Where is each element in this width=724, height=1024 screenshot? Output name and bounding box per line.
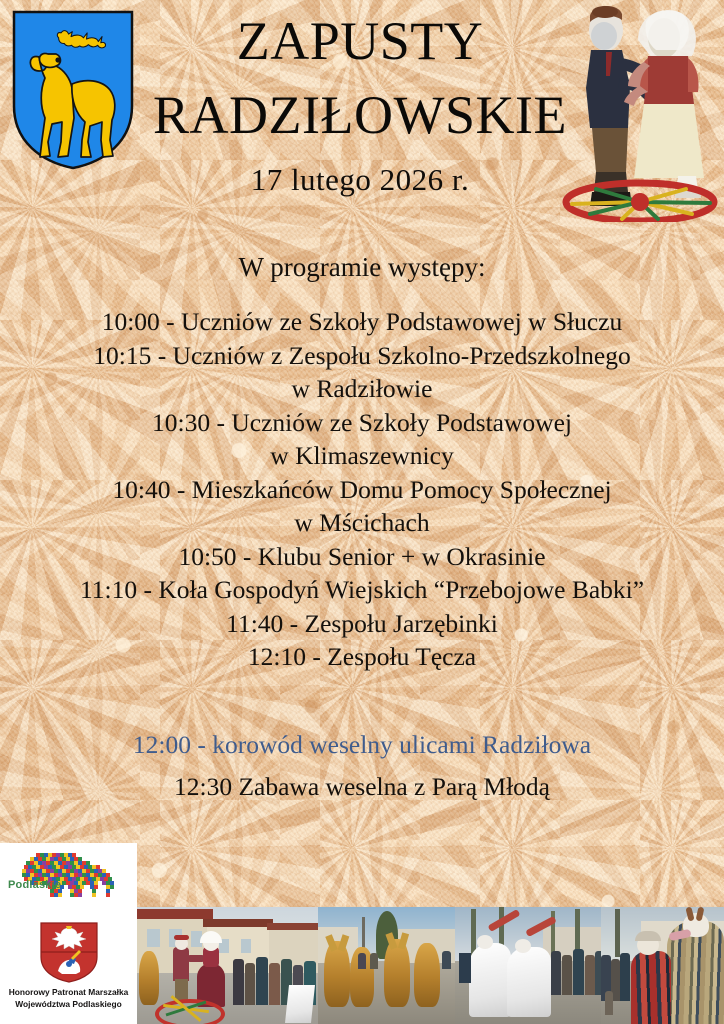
- wedding-couple-figurine: [560, 0, 720, 222]
- photo-masked-blanket-figures: [601, 907, 724, 1024]
- program-line: 10:00 - Uczniów ze Szkoły Podstawowej w …: [0, 305, 724, 339]
- program-line: w Klimaszewnicy: [0, 439, 724, 473]
- poster-canvas: ZAPUSTY RADZIŁOWSKIE 17 lutego 2026 r. W…: [0, 0, 724, 1024]
- patronage-box: Podlaskie Honorowy Patronat Marszałka W: [0, 843, 137, 1024]
- program-line: 10:40 - Mieszkańców Domu Pomocy Społeczn…: [0, 473, 724, 507]
- program-line: 11:10 - Koła Gospodyń Wiejskich “Przeboj…: [0, 573, 724, 607]
- patronage-line-1: Honorowy Patronat Marszałka: [0, 987, 137, 999]
- title-line-1: ZAPUSTY: [150, 14, 570, 68]
- closing-line: 12:30 Zabawa weselna z Parą Młodą: [0, 770, 724, 804]
- program-line: 11:40 - Zespołu Jarzębinki: [0, 607, 724, 641]
- podlaskie-wordmark: Podlaskie: [8, 879, 61, 891]
- podlaskie-bison-logo: [6, 851, 131, 901]
- highlight-line: 12:00 - korowód weselny ulicami Radziłow…: [0, 728, 724, 762]
- photo-straw-figures: [318, 907, 455, 1024]
- program-line: 10:30 - Uczniów ze Szkoły Podstawowej: [0, 406, 724, 440]
- poster-title: ZAPUSTY RADZIŁOWSKIE 17 lutego 2026 r.: [150, 14, 570, 195]
- title-line-2: RADZIŁOWSKIE: [150, 88, 570, 142]
- program-line: w Mścichach: [0, 506, 724, 540]
- podlaskie-coat-of-arms: [38, 921, 100, 983]
- photo-wedding-couple-street: [137, 907, 318, 1024]
- program-list: 10:00 - Uczniów ze Szkoły Podstawowej w …: [0, 305, 724, 674]
- program-line: 12:10 - Zespołu Tęcza: [0, 640, 724, 674]
- closing-program-block: 12:00 - korowód weselny ulicami Radziłow…: [0, 728, 724, 804]
- photo-strip: [137, 907, 724, 1024]
- radzilow-coat-of-arms: [12, 10, 134, 170]
- program-line: 10:50 - Klubu Senior + w Okrasinie: [0, 540, 724, 574]
- event-date: 17 lutego 2026 r.: [150, 164, 570, 195]
- patronage-caption: Honorowy Patronat Marszałka Województwa …: [0, 987, 137, 1010]
- program-line: w Radziłowie: [0, 372, 724, 406]
- program-line: 10:15 - Uczniów z Zespołu Szkolno-Przeds…: [0, 339, 724, 373]
- program-heading: W programie występy:: [0, 252, 724, 283]
- patronage-line-2: Województwa Podlaskiego: [0, 999, 137, 1011]
- photo-white-stork-figures: [455, 907, 601, 1024]
